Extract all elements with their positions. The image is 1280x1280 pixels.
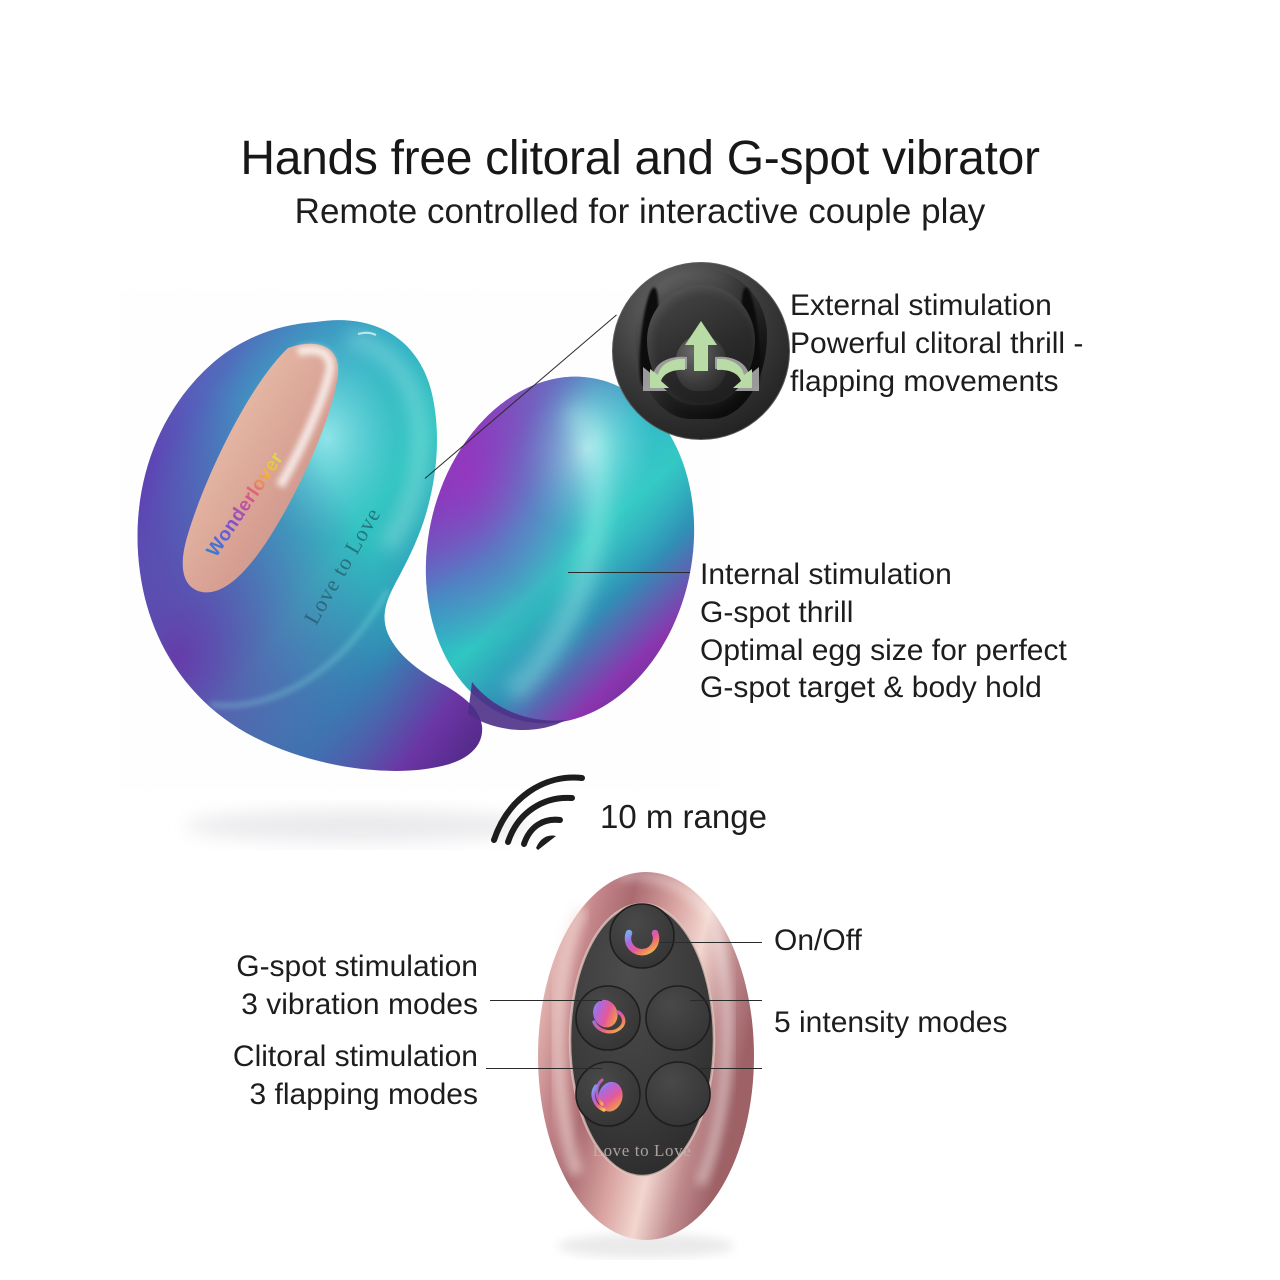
remote-button-plus[interactable] bbox=[646, 986, 710, 1050]
leader-line-intensity-minus bbox=[700, 1068, 762, 1069]
remote-button-clitoral[interactable] bbox=[576, 1062, 640, 1126]
remote-button-power[interactable] bbox=[610, 904, 674, 968]
callout-internal-stimulation: Internal stimulation G-spot thrill Optim… bbox=[700, 556, 1160, 707]
callout-intensity-modes: 5 intensity modes bbox=[774, 1004, 1074, 1042]
wifi-dot-icon bbox=[536, 836, 556, 851]
remote-brand-label: Love to Love bbox=[593, 1141, 692, 1160]
remote-control[interactable]: Love to Love bbox=[524, 868, 768, 1260]
arrow-up-icon bbox=[685, 321, 717, 371]
callout-external-stimulation: External stimulation Powerful clitoral t… bbox=[790, 287, 1210, 400]
leader-line-gspot bbox=[490, 1000, 602, 1001]
header-block: Hands free clitoral and G-spot vibrator … bbox=[0, 134, 1280, 231]
remote-button-minus[interactable] bbox=[646, 1062, 710, 1126]
wifi-range-icon bbox=[486, 768, 596, 854]
leader-line-internal bbox=[568, 572, 690, 573]
flapping-mechanism-detail-inset bbox=[612, 262, 790, 440]
range-label: 10 m range bbox=[600, 798, 767, 836]
arrow-curve-left-fill bbox=[650, 359, 685, 388]
product-shadow bbox=[185, 810, 535, 842]
callout-on-off: On/Off bbox=[774, 922, 1014, 960]
page-title: Hands free clitoral and G-spot vibrator bbox=[0, 134, 1280, 185]
infographic-canvas: Hands free clitoral and G-spot vibrator … bbox=[0, 0, 1280, 1280]
remote-button-gspot[interactable] bbox=[576, 986, 640, 1050]
callout-clitoral-modes: Clitoral stimulation 3 flapping modes bbox=[178, 1038, 478, 1114]
callout-gspot-modes: G-spot stimulation 3 vibration modes bbox=[178, 948, 478, 1024]
leader-line-intensity-plus bbox=[690, 1000, 762, 1001]
leader-line-clitoral bbox=[486, 1068, 602, 1069]
arrow-curve-right-fill bbox=[717, 359, 752, 388]
flapping-direction-arrows bbox=[613, 263, 789, 439]
page-subtitle: Remote controlled for interactive couple… bbox=[0, 193, 1280, 232]
leader-line-onoff bbox=[660, 942, 762, 943]
